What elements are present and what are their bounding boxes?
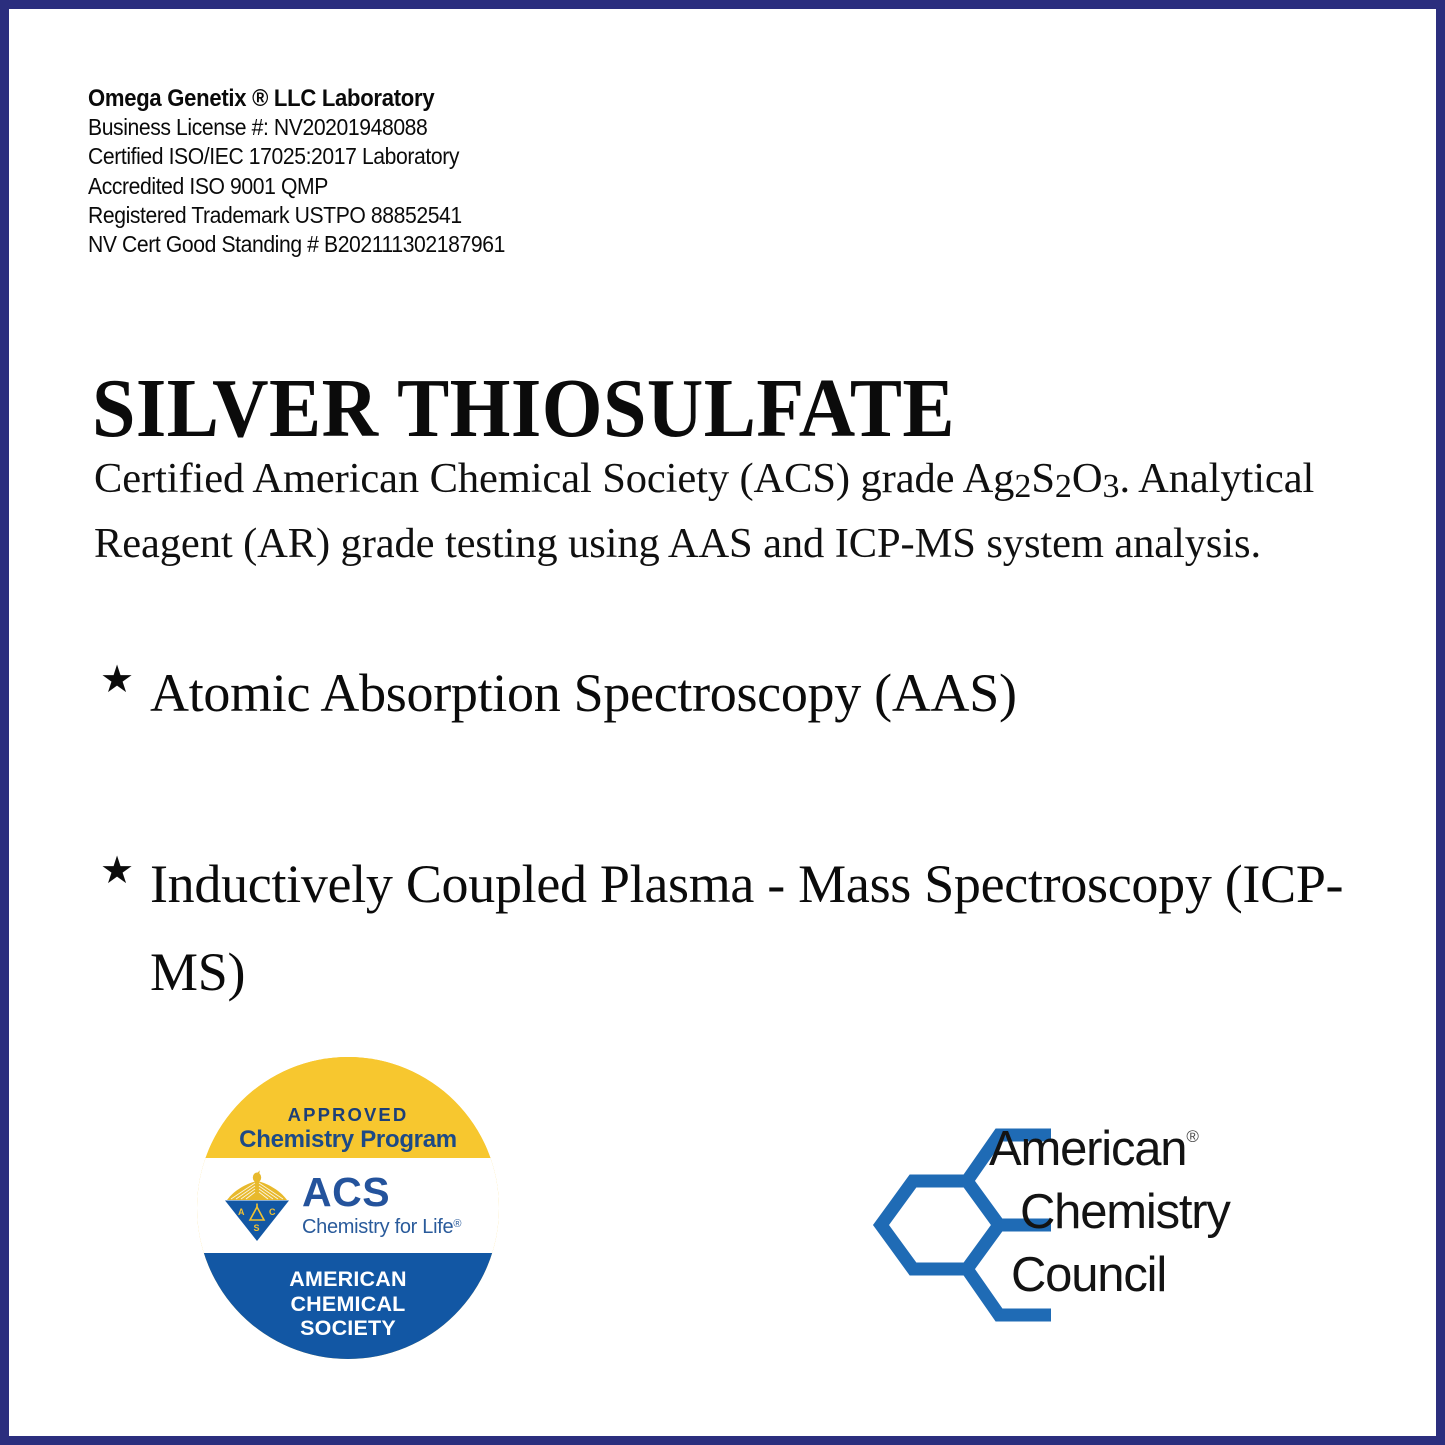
acc-line-chemistry: Chemistry: [1020, 1181, 1299, 1244]
list-item: ★ Inductively Coupled Plasma - Mass Spec…: [94, 840, 1404, 1016]
page-title: SILVER THIOSULFATE: [92, 363, 955, 455]
star-icon: ★: [94, 840, 150, 902]
accreditation-logos: APPROVED Chemistry Program: [9, 1044, 1436, 1404]
iso-accreditation: Accredited ISO 9001 QMP: [88, 172, 718, 201]
description-part-2: S: [1031, 455, 1055, 502]
business-license: Business License #: NV20201948088: [88, 113, 718, 142]
acc-wordmark: American® Chemistry Council: [989, 1105, 1299, 1307]
acs-org-line-3: SOCIETY: [300, 1316, 396, 1341]
acc-line-american-text: American: [989, 1122, 1186, 1176]
registered-mark-icon: ®: [1186, 1127, 1199, 1146]
american-chemistry-council-logo: American® Chemistry Council: [871, 1099, 1291, 1349]
registered-mark-icon: ®: [453, 1218, 461, 1230]
certificate-page: Omega Genetix ® LLC Laboratory Business …: [0, 0, 1445, 1445]
acs-seal-bottom-band: AMERICAN CHEMICAL SOCIETY: [197, 1253, 499, 1359]
list-item: ★ Atomic Absorption Spectroscopy (AAS): [94, 649, 1404, 737]
acs-org-line-1: AMERICAN: [289, 1267, 406, 1292]
registered-trademark: Registered Trademark USTPO 88852541: [88, 201, 718, 230]
formula-subscript-2: 2: [1055, 467, 1072, 504]
acs-tagline-text: Chemistry for Life: [302, 1216, 453, 1238]
acs-approved-label: APPROVED: [288, 1104, 409, 1126]
acs-org-line-2: CHEMICAL: [290, 1292, 405, 1317]
acs-initials: ACS: [302, 1172, 499, 1212]
formula-subscript-3: 3: [1102, 467, 1119, 504]
acc-line-american: American®: [989, 1105, 1299, 1181]
svg-text:C: C: [269, 1207, 276, 1217]
svg-text:S: S: [254, 1223, 260, 1233]
acs-seal-middle-band: A C S ACS Chemistry for Life®: [197, 1158, 499, 1253]
lab-credentials-block: Omega Genetix ® LLC Laboratory Business …: [88, 84, 788, 259]
acs-tagline: Chemistry for Life®: [302, 1212, 499, 1239]
method-label-aas: Atomic Absorption Spectroscopy (AAS): [150, 649, 1404, 737]
acc-line-council: Council: [1011, 1244, 1299, 1307]
iso-certification: Certified ISO/IEC 17025:2017 Laboratory: [88, 142, 718, 171]
star-icon: ★: [94, 649, 150, 711]
acs-eagle-diamond-icon: A C S: [219, 1169, 295, 1243]
acs-approved-program-seal: APPROVED Chemistry Program: [197, 1057, 499, 1359]
lab-name: Omega Genetix ® LLC Laboratory: [88, 84, 718, 113]
product-description: Certified American Chemical Society (ACS…: [94, 450, 1394, 574]
acs-program-label: Chemistry Program: [239, 1126, 457, 1154]
description-part-1: Certified American Chemical Society (ACS…: [94, 455, 1014, 502]
svg-text:A: A: [238, 1207, 245, 1217]
description-part-3: O: [1072, 455, 1103, 502]
acs-wordmark: ACS Chemistry for Life®: [302, 1172, 499, 1239]
acs-seal-top-band: APPROVED Chemistry Program: [197, 1057, 499, 1158]
method-label-icpms: Inductively Coupled Plasma - Mass Spectr…: [150, 840, 1404, 1016]
formula-subscript-1: 2: [1014, 467, 1031, 504]
nv-cert-standing: NV Cert Good Standing # B202111302187961: [88, 230, 718, 259]
